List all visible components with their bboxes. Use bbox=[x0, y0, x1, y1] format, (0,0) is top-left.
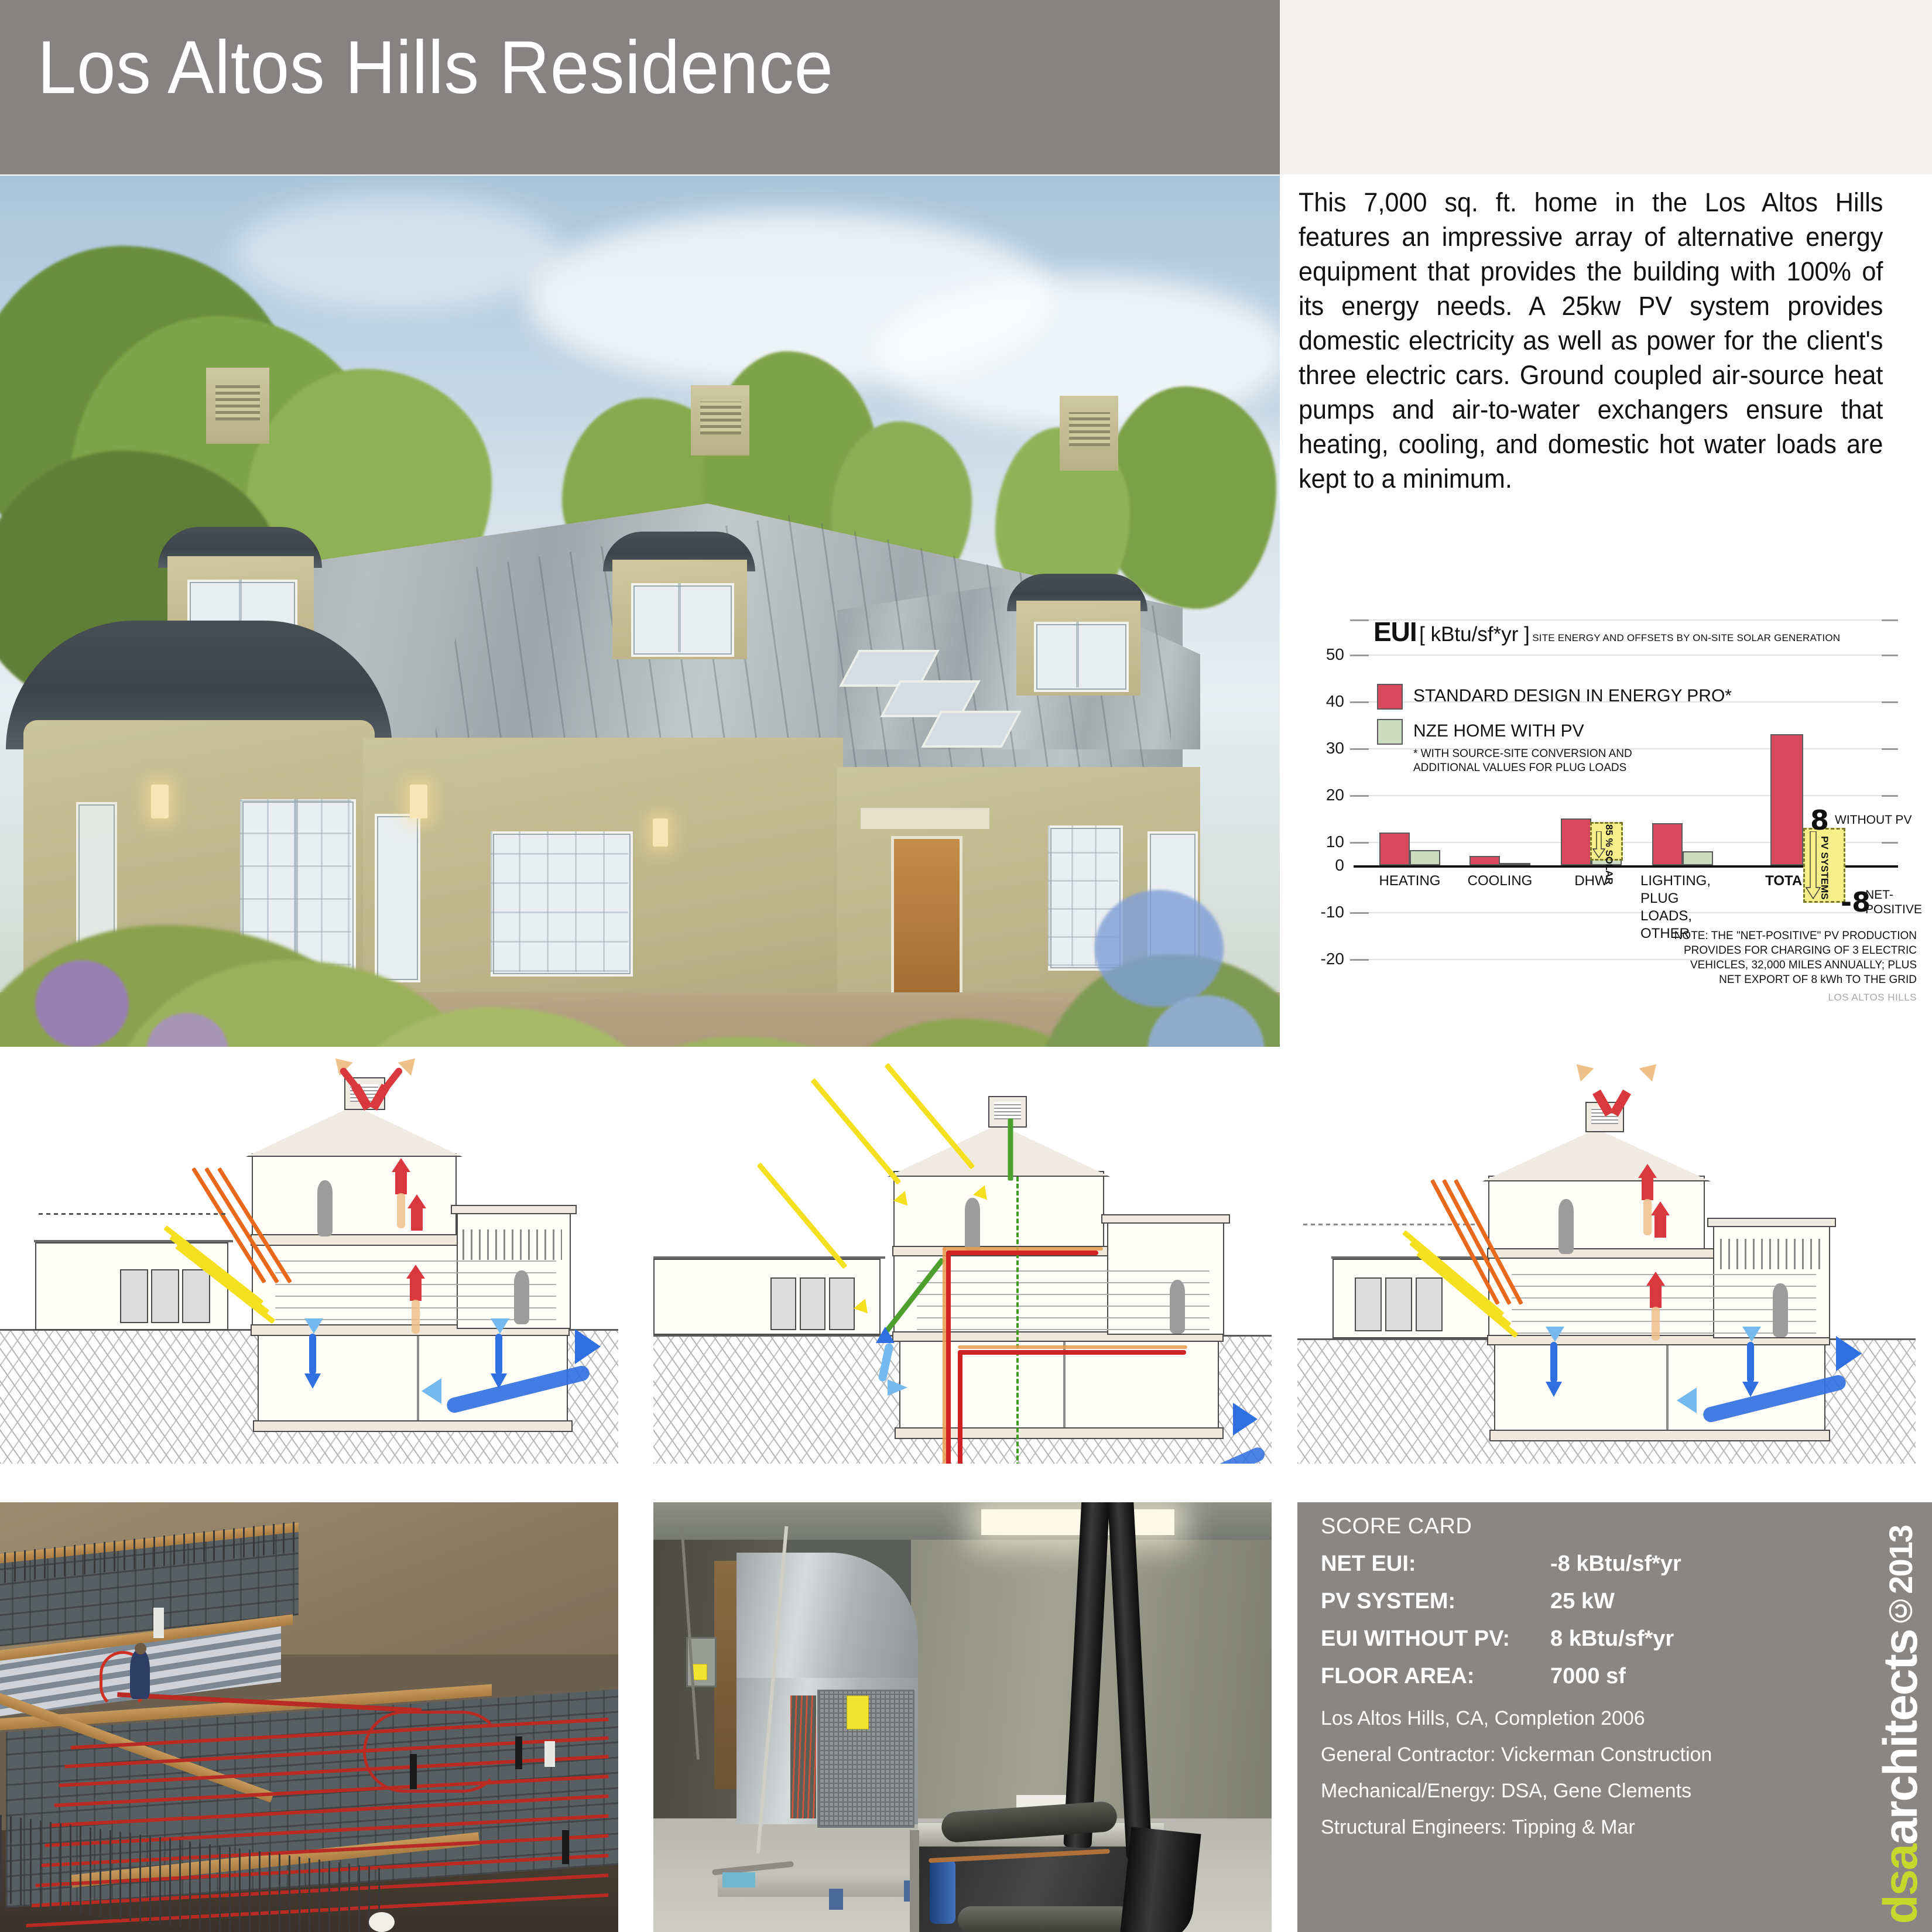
legend-label-standard: STANDARD DESIGN IN ENERGY PRO* bbox=[1413, 686, 1732, 706]
pex-return-bend bbox=[363, 1711, 503, 1793]
warm-air-tail bbox=[397, 1193, 405, 1228]
photo-mechanical bbox=[653, 1502, 1272, 1932]
exhaust-arrowhead bbox=[1639, 1057, 1663, 1081]
axis-tick bbox=[1350, 842, 1369, 844]
condensate-pump bbox=[722, 1872, 755, 1888]
dormer-window bbox=[1034, 622, 1129, 692]
solar-ray-summer bbox=[885, 1063, 975, 1170]
person-silhouette bbox=[1170, 1280, 1185, 1334]
insulated-pipe bbox=[958, 1906, 1133, 1932]
joist-lines bbox=[917, 1260, 1210, 1330]
gable-roof bbox=[888, 1124, 1110, 1177]
legend-label-nze: NZE HOME WITH PV bbox=[1413, 721, 1584, 741]
note-line: NOTE: THE "NET-POSITIVE" PV PRODUCTION bbox=[1507, 929, 1917, 943]
axis-tick-right bbox=[1882, 655, 1898, 656]
warm-air-arrow bbox=[1642, 1174, 1653, 1200]
flowers bbox=[1095, 890, 1224, 1007]
axis-tick-right bbox=[1882, 748, 1898, 750]
warm-air-arrow bbox=[395, 1169, 407, 1194]
axis-tick-right bbox=[1882, 842, 1898, 844]
solar-collector-upper bbox=[1008, 1119, 1013, 1181]
cool-air-arrowhead bbox=[304, 1373, 321, 1389]
brand-logo: dsaarchitects©2013 bbox=[1873, 1526, 1928, 1924]
flowers bbox=[35, 960, 129, 1047]
axis-tick bbox=[1350, 795, 1369, 797]
axis-tick bbox=[1350, 912, 1369, 914]
chimney-louver bbox=[1069, 412, 1110, 446]
y-tick-label: 40 bbox=[1306, 692, 1344, 711]
duct-pipe-elbow bbox=[1119, 1827, 1201, 1932]
score-note-location: Los Altos Hills, CA, Completion 2006 bbox=[1321, 1707, 1645, 1730]
pipe-sleeve bbox=[369, 1912, 395, 1932]
section-diagram-1 bbox=[0, 1054, 618, 1464]
chart-subtitle: SITE ENERGY AND OFFSETS BY ON-SITE SOLAR… bbox=[1532, 632, 1840, 643]
warm-air-arrowhead bbox=[1638, 1164, 1657, 1178]
equipment-wiring bbox=[790, 1695, 816, 1818]
category-label-dhw: DHW bbox=[1550, 872, 1632, 890]
hydronic-supply-upper bbox=[946, 1251, 1098, 1255]
hydronic-drop bbox=[958, 1350, 962, 1464]
warm-air-arrowhead bbox=[406, 1265, 425, 1279]
wing-window bbox=[1355, 1277, 1382, 1331]
section-diagram-2 bbox=[653, 1054, 1272, 1464]
wing-window bbox=[829, 1277, 855, 1330]
without-pv-value: 8 bbox=[1810, 804, 1829, 836]
warm-air-tail bbox=[412, 1300, 420, 1334]
wall-sconce bbox=[410, 785, 427, 818]
axis-tick-right bbox=[1882, 795, 1898, 797]
gridline bbox=[1354, 655, 1898, 656]
description-text: This 7,000 sq. ft. home in the Los Altos… bbox=[1299, 185, 1883, 496]
y-tick-label: 20 bbox=[1306, 786, 1344, 804]
wing-window bbox=[182, 1269, 210, 1323]
wall-sconce bbox=[151, 785, 169, 818]
photo-foundation bbox=[0, 1502, 618, 1932]
section-diagram-3 bbox=[1297, 1054, 1916, 1464]
note-line: PROVIDES FOR CHARGING OF 3 ELECTRIC bbox=[1507, 943, 1917, 958]
compressor-tank bbox=[930, 1859, 955, 1924]
y-tick-label: -20 bbox=[1306, 950, 1344, 968]
wall-sconce bbox=[653, 818, 668, 847]
person-silhouette bbox=[1558, 1199, 1574, 1254]
description-panel: This 7,000 sq. ft. home in the Los Altos… bbox=[1280, 174, 1932, 584]
bar-lighting-standard bbox=[1652, 823, 1683, 865]
category-label-heating: HEATING bbox=[1369, 872, 1451, 890]
score-value: -8 kBtu/sf*yr bbox=[1550, 1551, 1681, 1577]
net-positive-label: NET- POSITIVE bbox=[1865, 888, 1922, 917]
score-row-pv-system: PV SYSTEM: 25 kW bbox=[1321, 1589, 1807, 1619]
axis-tick bbox=[1350, 655, 1369, 656]
chart-note: NOTE: THE "NET-POSITIVE" PV PRODUCTION P… bbox=[1507, 929, 1917, 987]
cool-air-arrowhead bbox=[304, 1318, 323, 1334]
ground-loop-source bbox=[1836, 1336, 1862, 1371]
horizon-line bbox=[39, 1213, 226, 1215]
entry-door bbox=[891, 836, 962, 1001]
cloud bbox=[234, 193, 562, 310]
net-positive-line-2: POSITIVE bbox=[1865, 903, 1922, 916]
chimney-louver bbox=[215, 385, 260, 420]
legend-footnote: * WITH SOURCE-SITE CONVERSION AND ADDITI… bbox=[1413, 747, 1636, 775]
wing-roof bbox=[34, 1240, 233, 1242]
anchor-bolt bbox=[562, 1830, 569, 1864]
hydronic-supply-lower bbox=[958, 1350, 1186, 1355]
brand-primary: dsa bbox=[1874, 1845, 1927, 1924]
score-value: 25 kW bbox=[1550, 1589, 1615, 1614]
ground-loop-source bbox=[1233, 1403, 1258, 1436]
warm-air-tail bbox=[1643, 1199, 1652, 1235]
ceiling-light bbox=[981, 1509, 1174, 1535]
bar-heating-nze bbox=[1410, 850, 1440, 865]
person-silhouette bbox=[514, 1270, 529, 1324]
axis-tick-right bbox=[1882, 619, 1898, 621]
right-roof bbox=[451, 1205, 577, 1214]
bar-heating-standard bbox=[1379, 833, 1410, 865]
ground-loop-arrowhead bbox=[422, 1378, 441, 1404]
exhaust-arrowhead bbox=[1570, 1057, 1594, 1081]
outside-air-arrowhead bbox=[876, 1327, 895, 1343]
person-silhouette bbox=[1773, 1283, 1788, 1337]
score-value: 8 kBtu/sf*yr bbox=[1550, 1626, 1674, 1652]
chart-title-unit: [ kBtu/sf*yr ] bbox=[1419, 623, 1530, 646]
window-mullion bbox=[1076, 622, 1079, 687]
hydronic-return-riser bbox=[943, 1247, 946, 1464]
y-tick-label: 10 bbox=[1306, 833, 1344, 851]
legend-swatch-nze bbox=[1377, 719, 1403, 745]
y-tick-label: -10 bbox=[1306, 903, 1344, 922]
cool-air-arrowhead bbox=[1546, 1327, 1564, 1342]
eui-chart-panel: 50 40 30 20 10 0 -10 -20 EUI [ kBtu/sf*y… bbox=[1280, 585, 1932, 1048]
category-label-cooling: COOLING bbox=[1459, 872, 1541, 890]
brand-secondary: architects bbox=[1874, 1629, 1927, 1844]
worker-silhouette bbox=[130, 1650, 150, 1699]
bar-cooling-nze bbox=[1500, 863, 1530, 865]
supply-duct bbox=[737, 1553, 918, 1699]
note-line: NET EXPORT OF 8 kWh TO THE GRID bbox=[1507, 972, 1917, 987]
axis-tick bbox=[1350, 748, 1369, 750]
axis-tick bbox=[1350, 701, 1369, 703]
cool-air-stream bbox=[495, 1334, 502, 1375]
basement-divider bbox=[1666, 1345, 1669, 1431]
vibration-isolator bbox=[829, 1889, 843, 1910]
gable-roof bbox=[246, 1105, 463, 1157]
eui-chart: 50 40 30 20 10 0 -10 -20 EUI [ kBtu/sf*y… bbox=[1280, 585, 1932, 1048]
hydronic-return-lower bbox=[958, 1345, 1187, 1349]
wing-window bbox=[770, 1277, 796, 1330]
solar-arrow-icon bbox=[1592, 831, 1605, 858]
gridline bbox=[1354, 912, 1898, 913]
solar-ray-summer bbox=[811, 1078, 902, 1185]
wing-window bbox=[151, 1269, 179, 1323]
window-mullion bbox=[678, 583, 681, 652]
right-roof bbox=[1101, 1214, 1230, 1224]
outside-air-arrowhead bbox=[888, 1379, 907, 1396]
bar-lighting-nze bbox=[1683, 851, 1713, 865]
net-positive-line-1: NET- bbox=[1865, 888, 1893, 902]
upper-floor bbox=[1488, 1176, 1705, 1255]
person-silhouette bbox=[965, 1198, 980, 1253]
warm-air-arrow bbox=[1650, 1282, 1662, 1308]
wing-window bbox=[800, 1277, 825, 1330]
y-tick-label: 30 bbox=[1306, 739, 1344, 758]
without-pv-label: WITHOUT PV bbox=[1835, 813, 1912, 827]
score-card: SCORE CARD NET EUI: -8 kBtu/sf*yr PV SYS… bbox=[1297, 1502, 1932, 1932]
note-line: VEHICLES, 32,000 MILES ANNUALLY; PLUS bbox=[1507, 958, 1917, 972]
warm-air-arrowhead bbox=[1651, 1201, 1670, 1215]
solar-thermal-riser bbox=[1016, 1177, 1019, 1464]
axis-tick-right bbox=[1882, 701, 1898, 703]
anchor-bolt bbox=[515, 1736, 522, 1769]
cool-air-arrowhead bbox=[1742, 1327, 1761, 1342]
legend-swatch-standard bbox=[1377, 684, 1403, 710]
basement-footing bbox=[253, 1420, 573, 1432]
score-row-eui-without-pv: EUI WITHOUT PV: 8 kBtu/sf*yr bbox=[1321, 1626, 1807, 1657]
chart-title-group: EUI [ kBtu/sf*yr ] SITE ENERGY AND OFFSE… bbox=[1373, 616, 1840, 648]
y-tick-label: 50 bbox=[1306, 645, 1344, 664]
heat-pump-frame bbox=[910, 1830, 919, 1932]
right-roof bbox=[1707, 1218, 1836, 1227]
window bbox=[375, 814, 420, 982]
pipe-sleeve bbox=[544, 1741, 555, 1767]
ground-loop-source bbox=[575, 1329, 601, 1364]
score-note-mechanical: Mechanical/Energy: DSA, Gene Clements bbox=[1321, 1780, 1691, 1803]
basement-footing bbox=[1489, 1430, 1830, 1441]
cool-air-arrowhead bbox=[1546, 1382, 1562, 1397]
worker-head bbox=[135, 1643, 146, 1654]
pipe-sleeve bbox=[153, 1608, 164, 1638]
basement-divider bbox=[417, 1336, 419, 1421]
y-tick-label: 0 bbox=[1306, 856, 1344, 875]
equipment-label bbox=[847, 1695, 869, 1729]
warm-air-arrowhead bbox=[407, 1194, 426, 1208]
score-note-contractor: General Contractor: Vickerman Constructi… bbox=[1321, 1743, 1712, 1766]
axis-tick bbox=[1350, 619, 1369, 621]
cool-air-stream bbox=[1550, 1342, 1557, 1383]
gable-roof bbox=[1482, 1129, 1711, 1181]
wing-roof bbox=[653, 1256, 885, 1259]
bar-total-standard bbox=[1770, 734, 1803, 865]
score-note-structural: Structural Engineers: Tipping & Mar bbox=[1321, 1816, 1635, 1839]
score-value: 7000 sf bbox=[1550, 1664, 1626, 1689]
cool-air-arrowhead bbox=[491, 1318, 509, 1334]
ceiling bbox=[653, 1502, 1272, 1540]
chart-credit: LOS ALTOS HILLS bbox=[1683, 992, 1917, 1003]
hero-photo bbox=[0, 176, 1280, 1047]
score-row-net-eui: NET EUI: -8 kBtu/sf*yr bbox=[1321, 1551, 1807, 1582]
bar-cooling-standard bbox=[1469, 856, 1500, 865]
score-key: PV SYSTEM: bbox=[1321, 1589, 1455, 1614]
dormer-window bbox=[631, 583, 734, 657]
warm-air-arrowhead bbox=[392, 1158, 410, 1172]
cool-air-arrowhead bbox=[1742, 1382, 1759, 1397]
upper-floor bbox=[893, 1171, 1104, 1253]
anchor-bolt bbox=[410, 1754, 417, 1789]
score-key: EUI WITHOUT PV: bbox=[1321, 1626, 1510, 1652]
wing-window bbox=[1385, 1277, 1412, 1331]
window-grid bbox=[491, 831, 628, 972]
bar-dhw-standard bbox=[1561, 818, 1591, 865]
warm-air-arrowhead bbox=[1646, 1272, 1665, 1286]
chart-title: EUI bbox=[1373, 616, 1417, 647]
copyright-notice: ©2013 bbox=[1882, 1526, 1919, 1630]
pv-down-arrow-icon bbox=[1806, 831, 1821, 899]
wing-window bbox=[1416, 1277, 1443, 1331]
axis-tick bbox=[1350, 959, 1369, 961]
ground-loop-arrowhead bbox=[1677, 1388, 1697, 1413]
warm-air-arrow bbox=[410, 1275, 422, 1301]
cool-air-stream bbox=[309, 1334, 316, 1375]
score-card-heading: SCORE CARD bbox=[1321, 1514, 1472, 1539]
basement-divider bbox=[1063, 1342, 1066, 1429]
gridline bbox=[1354, 795, 1898, 796]
cupola-louver bbox=[994, 1102, 1021, 1119]
hydronic-return-upper bbox=[943, 1247, 1103, 1251]
page-title: Los Altos Hills Residence bbox=[37, 25, 834, 111]
chimney-louver bbox=[700, 402, 741, 434]
score-row-floor-area: FLOOR AREA: 7000 sf bbox=[1321, 1664, 1807, 1694]
entry-soffit bbox=[861, 808, 989, 829]
cool-air-stream bbox=[1747, 1342, 1754, 1383]
score-key: NET EUI: bbox=[1321, 1551, 1416, 1577]
warm-air-tail bbox=[1652, 1307, 1660, 1341]
score-key: FLOOR AREA: bbox=[1321, 1664, 1474, 1689]
header-right-panel bbox=[1280, 0, 1932, 174]
basement bbox=[1494, 1344, 1825, 1431]
person-silhouette bbox=[317, 1180, 333, 1236]
wing-window bbox=[120, 1269, 148, 1323]
hydronic-riser bbox=[946, 1251, 951, 1464]
warm-air-arrow bbox=[411, 1205, 423, 1231]
warm-air-arrow bbox=[1654, 1212, 1666, 1238]
solar-ray-summer bbox=[757, 1163, 848, 1269]
